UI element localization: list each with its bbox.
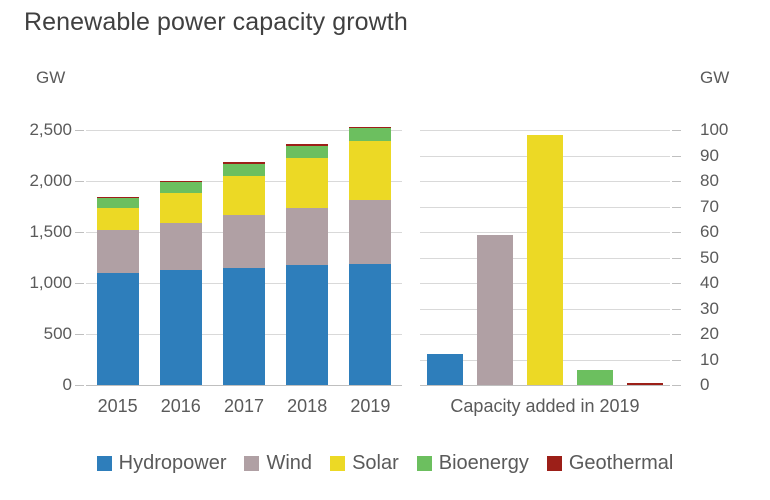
bar-segment-bioenergy-2018[interactable] (286, 146, 328, 159)
bar-segment-bioenergy-2019[interactable] (349, 128, 391, 141)
legend-item-bioenergy[interactable]: Bioenergy (417, 452, 529, 475)
axis-tick-mark (75, 334, 84, 335)
left-axis-tick-labels: 05001,0001,5002,0002,500 (0, 130, 72, 385)
legend-swatch-icon (330, 456, 345, 471)
legend-item-geothermal[interactable]: Geothermal (547, 452, 674, 475)
bar-segment-geothermal-2015[interactable] (97, 197, 139, 198)
gridline (420, 385, 670, 386)
left-axis-tick-label: 2,000 (29, 172, 72, 189)
legend-item-label: Hydropower (119, 452, 227, 475)
left-axis-tick-label: 1,500 (29, 223, 72, 240)
axis-tick-mark (672, 360, 681, 361)
x-axis-tick-label-2016: 2016 (149, 396, 212, 417)
axis-tick-mark (75, 232, 84, 233)
right-axis-tick-label: 100 (700, 121, 728, 138)
x-axis-tick-label-2015: 2015 (86, 396, 149, 417)
bar-segment-bioenergy-2017[interactable] (223, 164, 265, 176)
right-axis-tick-label: 40 (700, 274, 719, 291)
legend-item-label: Wind (266, 452, 312, 475)
bar-segment-geothermal-2018[interactable] (286, 144, 328, 145)
bar-segment-wind-2016[interactable] (160, 223, 202, 271)
stacked-bar-2015[interactable] (97, 130, 139, 385)
legend-swatch-icon (244, 456, 259, 471)
page-title: Renewable power capacity growth (24, 8, 408, 37)
right-axis-tick-label: 90 (700, 147, 719, 164)
bar-segment-solar-2018[interactable] (286, 158, 328, 208)
bar-segment-bioenergy-2015[interactable] (97, 198, 139, 207)
bar-hydropower-added-2019[interactable] (427, 354, 463, 385)
legend-item-hydropower[interactable]: Hydropower (97, 452, 227, 475)
axis-tick-mark (672, 309, 681, 310)
right-axis-tick-label: 60 (700, 223, 719, 240)
left-axis-tick-label: 1,000 (29, 274, 72, 291)
bar-segment-solar-2016[interactable] (160, 193, 202, 223)
bar-segment-hydropower-2015[interactable] (97, 273, 139, 385)
stacked-bar-chart-plot-area (86, 130, 402, 385)
axis-tick-mark (672, 181, 681, 182)
right-axis-tick-label: 80 (700, 172, 719, 189)
legend-swatch-icon (417, 456, 432, 471)
gridline (86, 385, 402, 386)
bar-segment-hydropower-2017[interactable] (223, 268, 265, 386)
stacked-bar-2018[interactable] (286, 130, 328, 385)
axis-tick-mark (672, 207, 681, 208)
bar-segment-wind-2019[interactable] (349, 200, 391, 263)
left-axis-tick-label: 500 (44, 325, 72, 342)
bar-wind-added-2019[interactable] (477, 235, 513, 385)
stacked-bar-2019[interactable] (349, 130, 391, 385)
bar-segment-solar-2017[interactable] (223, 176, 265, 216)
bar-segment-bioenergy-2016[interactable] (160, 182, 202, 193)
bar-segment-geothermal-2016[interactable] (160, 181, 202, 182)
legend-item-label: Bioenergy (439, 452, 529, 475)
gridline (420, 130, 670, 131)
right-axis-tick-labels: 0102030405060708090100 (700, 130, 766, 385)
bar-segment-hydropower-2019[interactable] (349, 264, 391, 385)
bar-segment-wind-2015[interactable] (97, 230, 139, 273)
bar-segment-wind-2018[interactable] (286, 208, 328, 266)
legend-swatch-icon (97, 456, 112, 471)
axis-tick-mark (672, 232, 681, 233)
right-axis-unit-label: GW (700, 68, 729, 88)
right-axis-tick-label: 0 (700, 376, 709, 393)
right-chart-x-axis-label: Capacity added in 2019 (420, 396, 670, 417)
bar-segment-solar-2019[interactable] (349, 141, 391, 201)
right-axis-tick-label: 20 (700, 325, 719, 342)
chart-legend: HydropowerWindSolarBioenergyGeothermal (0, 452, 770, 475)
left-axis-unit-label: GW (36, 68, 65, 88)
legend-item-wind[interactable]: Wind (244, 452, 312, 475)
left-axis-tick-label: 0 (63, 376, 72, 393)
right-axis-tick-label: 10 (700, 351, 719, 368)
bar-segment-hydropower-2016[interactable] (160, 270, 202, 385)
axis-tick-mark (75, 181, 84, 182)
left-axis-tick-label: 2,500 (29, 121, 72, 138)
legend-swatch-icon (547, 456, 562, 471)
legend-item-label: Geothermal (569, 452, 674, 475)
legend-item-label: Solar (352, 452, 399, 475)
capacity-added-chart-plot-area (420, 130, 670, 385)
axis-tick-mark (75, 385, 84, 386)
bar-geothermal-added-2019[interactable] (627, 383, 663, 385)
x-axis-tick-label-2019: 2019 (339, 396, 402, 417)
bar-segment-geothermal-2017[interactable] (223, 162, 265, 163)
bar-segment-hydropower-2018[interactable] (286, 265, 328, 385)
axis-tick-mark (672, 130, 681, 131)
axis-tick-mark (75, 283, 84, 284)
bar-solar-added-2019[interactable] (527, 135, 563, 385)
bar-segment-solar-2015[interactable] (97, 208, 139, 231)
bar-segment-wind-2017[interactable] (223, 215, 265, 267)
axis-tick-mark (672, 283, 681, 284)
right-axis-tick-label: 50 (700, 249, 719, 266)
x-axis-tick-label-2017: 2017 (212, 396, 275, 417)
stacked-bar-2016[interactable] (160, 130, 202, 385)
axis-tick-mark (672, 334, 681, 335)
bar-bioenergy-added-2019[interactable] (577, 370, 613, 385)
stacked-bar-2017[interactable] (223, 130, 265, 385)
x-axis-tick-label-2018: 2018 (276, 396, 339, 417)
right-axis-tick-label: 30 (700, 300, 719, 317)
axis-tick-mark (672, 156, 681, 157)
axis-tick-mark (672, 258, 681, 259)
axis-tick-mark (75, 130, 84, 131)
bar-segment-geothermal-2019[interactable] (349, 127, 391, 128)
right-axis-tick-label: 70 (700, 198, 719, 215)
axis-tick-mark (672, 385, 681, 386)
legend-item-solar[interactable]: Solar (330, 452, 399, 475)
